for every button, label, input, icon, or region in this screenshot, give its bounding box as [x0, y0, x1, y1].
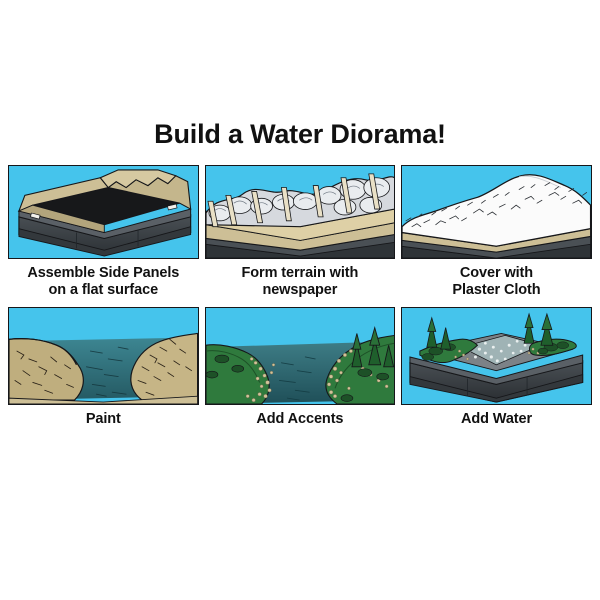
- step-5-image: [205, 307, 396, 405]
- step-2-image: [205, 165, 396, 259]
- steps-grid: Assemble Side Panels on a flat surface: [8, 165, 592, 428]
- step-4-caption-line1: Paint: [86, 411, 121, 427]
- steps-row-1: Assemble Side Panels on a flat surface: [8, 165, 592, 299]
- page-title: Build a Water Diorama!: [0, 118, 600, 150]
- step-3-caption-line2: Plaster Cloth: [401, 282, 592, 299]
- step-3-image: [401, 165, 592, 259]
- steps-row-2: Paint: [8, 307, 592, 428]
- diorama-base-illustration: [9, 166, 198, 258]
- step-4-image: [8, 307, 199, 405]
- step-2-caption-line1: Form terrain with: [242, 265, 359, 281]
- step-5-caption-line1: Add Accents: [256, 411, 343, 427]
- step-3-caption: Cover with Plaster Cloth: [401, 265, 592, 299]
- plaster-cloth-illustration: [402, 166, 591, 258]
- step-6-caption: Add Water: [401, 411, 592, 428]
- step-paint: Paint: [8, 307, 199, 428]
- step-1-caption-line2: on a flat surface: [8, 282, 199, 299]
- step-assemble-side-panels: Assemble Side Panels on a flat surface: [8, 165, 199, 299]
- finished-diorama-illustration: [402, 308, 591, 404]
- step-form-terrain-newspaper: Form terrain with newspaper: [205, 165, 396, 299]
- step-add-accents: Add Accents: [205, 307, 396, 428]
- step-add-water: Add Water: [401, 307, 592, 428]
- step-1-caption-line1: Assemble Side Panels: [27, 265, 179, 281]
- step-4-caption: Paint: [8, 411, 199, 428]
- step-2-caption: Form terrain with newspaper: [205, 265, 396, 299]
- poster: Build a Water Diorama!: [0, 0, 600, 600]
- step-5-caption: Add Accents: [205, 411, 396, 428]
- painted-terrain-illustration: [9, 308, 198, 404]
- step-1-image: [8, 165, 199, 259]
- step-cover-plaster-cloth: Cover with Plaster Cloth: [401, 165, 592, 299]
- newspaper-terrain-illustration: [206, 166, 395, 258]
- step-3-caption-line1: Cover with: [460, 265, 533, 281]
- step-6-image: [401, 307, 592, 405]
- step-1-caption: Assemble Side Panels on a flat surface: [8, 265, 199, 299]
- accents-terrain-illustration: [206, 308, 395, 404]
- step-6-caption-line1: Add Water: [461, 411, 532, 427]
- step-2-caption-line2: newspaper: [205, 282, 396, 299]
